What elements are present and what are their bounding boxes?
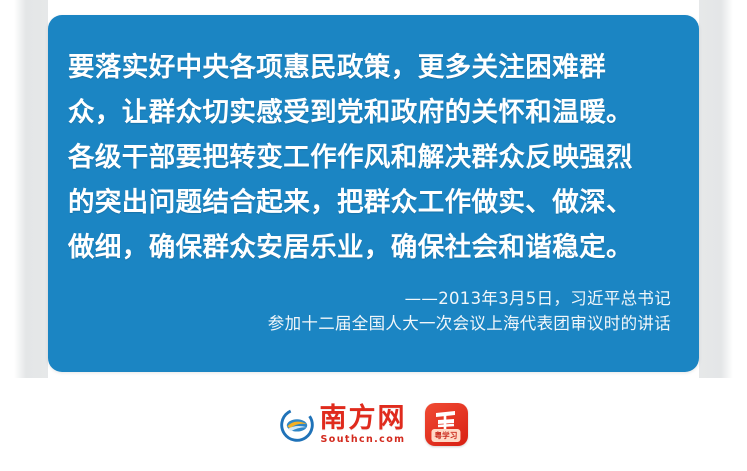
southcn-chinese-name: 南方网	[320, 405, 407, 432]
attribution-line-2: 参加十二届全国人大一次会议上海代表团审议时的讲话	[68, 311, 671, 336]
southcn-logo[interactable]: 南方网 Southcn.com	[280, 403, 407, 447]
attribution-line-1: ——2013年3月5日，习近平总书记	[68, 286, 671, 311]
footer-logo-bar: 南方网 Southcn.com 粤学习	[0, 378, 747, 471]
southcn-wordmark: 南方网 Southcn.com	[320, 405, 407, 445]
yuexuexi-logo[interactable]: 粤学习	[425, 403, 468, 446]
quote-card: 要落实好中央各项惠民政策，更多关注困难群 众，让群众切实感受到党和政府的关怀和温…	[48, 15, 699, 372]
quote-attribution: ——2013年3月5日，习近平总书记 参加十二届全国人大一次会议上海代表团审议时…	[68, 286, 677, 336]
page-canvas: 要落实好中央各项惠民政策，更多关注困难群 众，让群众切实感受到党和政府的关怀和温…	[0, 0, 747, 471]
quote-text: 要落实好中央各项惠民政策，更多关注困难群 众，让群众切实感受到党和政府的关怀和温…	[68, 45, 677, 270]
yuexuexi-badge-label: 粤学习	[431, 429, 460, 442]
southcn-swirl-icon	[280, 408, 314, 442]
southcn-english-name: Southcn.com	[321, 435, 406, 445]
